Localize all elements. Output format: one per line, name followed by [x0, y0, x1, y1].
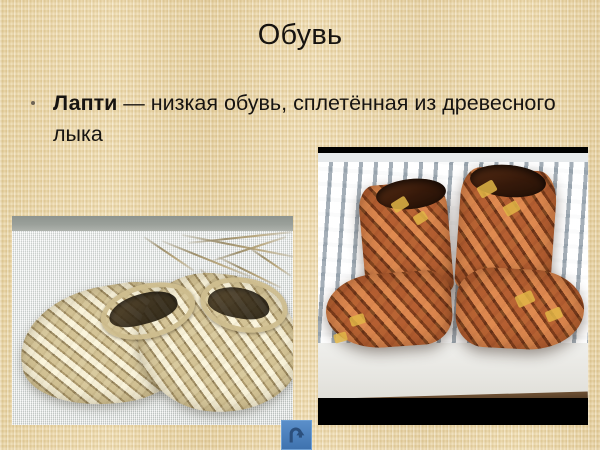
page-title: Обувь — [0, 18, 600, 52]
photo-right-letterbox-bottom — [318, 398, 588, 425]
bullet-list: Лапти — низкая обувь, сплетённая из древ… — [28, 88, 558, 150]
image-pale-bast-shoes — [12, 216, 293, 425]
list-item: Лапти — низкая обувь, сплетённая из древ… — [53, 88, 558, 150]
bullet-definition-text: — низкая обувь, сплетённая из древесного… — [53, 91, 556, 146]
slide-canvas: Обувь Лапти — низкая обувь, сплетённая и… — [0, 0, 600, 450]
photo-right-letterbox-top — [318, 147, 588, 153]
image-brown-bast-boots — [318, 147, 588, 425]
return-button[interactable] — [281, 420, 312, 450]
bullet-lead-term: Лапти — [53, 91, 117, 115]
photo-left-top-band — [12, 216, 293, 231]
bullet-dot-icon — [31, 101, 35, 105]
u-turn-arrow-icon — [287, 426, 306, 445]
